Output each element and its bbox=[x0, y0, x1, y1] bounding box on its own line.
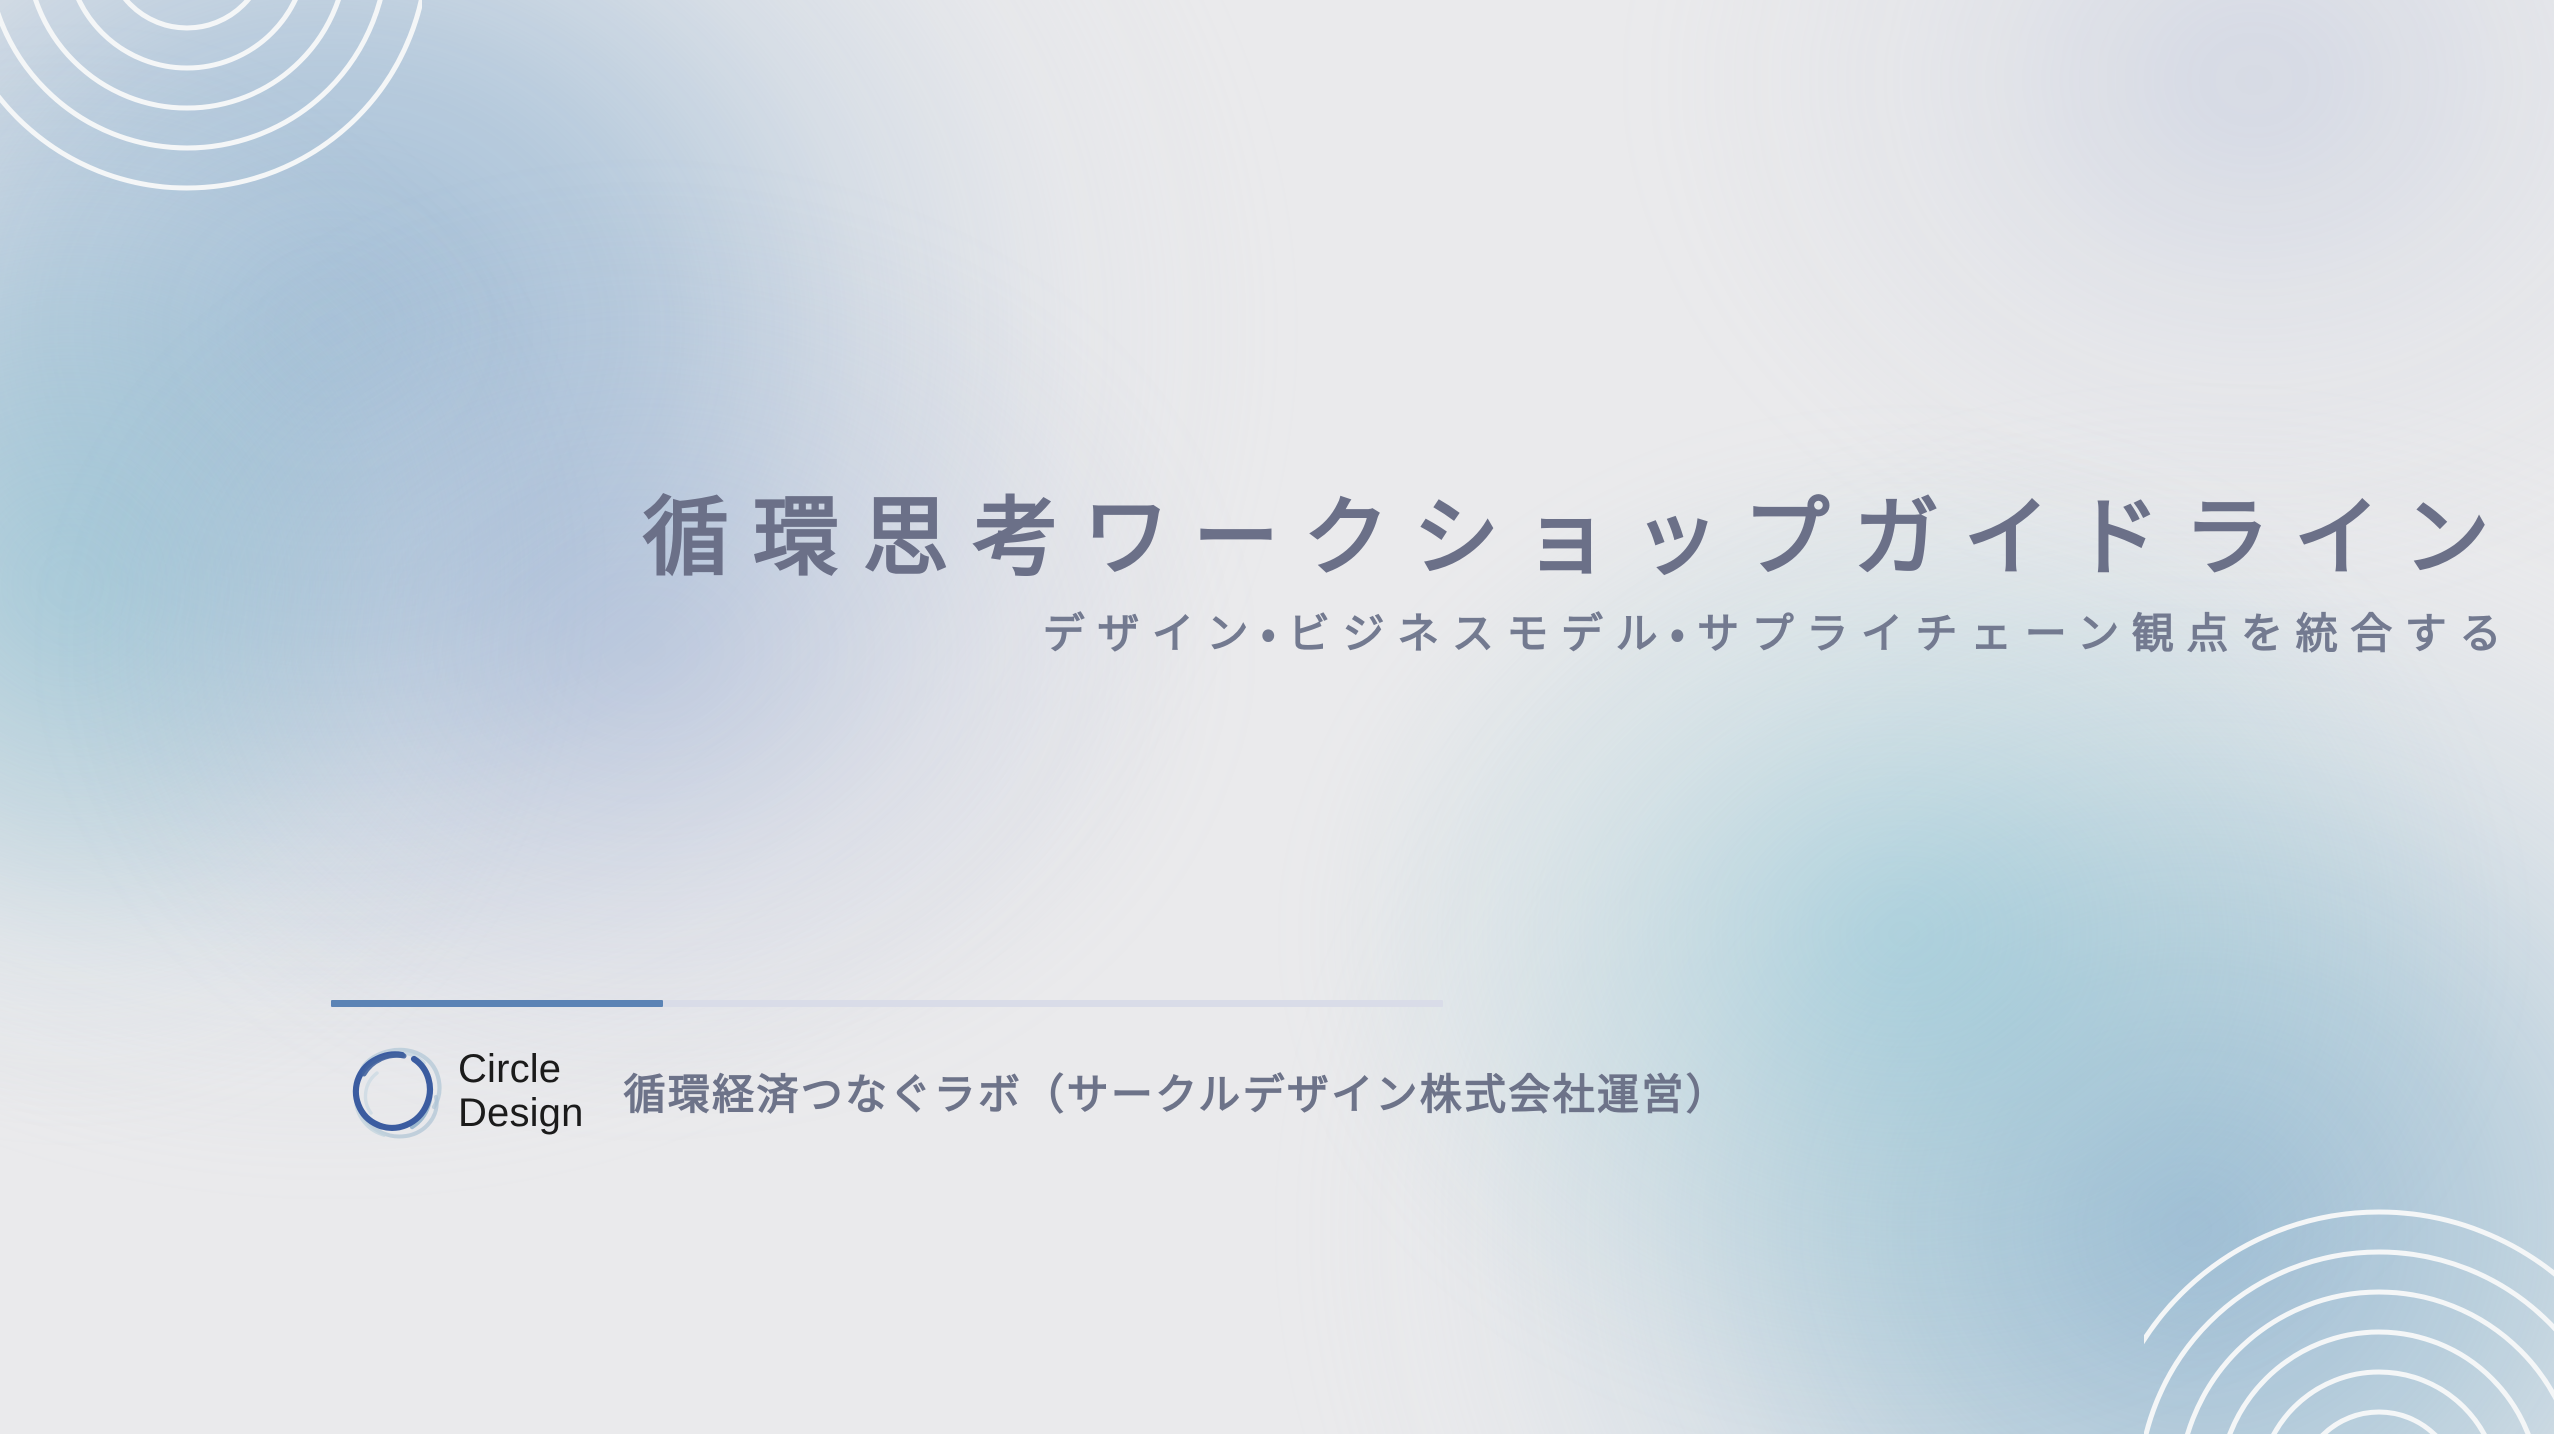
logo-wordmark: Circle Design bbox=[458, 1049, 583, 1133]
title-slide: 循環思考ワークショップガイドライン デザイン・ビジネスモデル・サプライチェーン観… bbox=[0, 0, 2554, 1434]
logo-word-design: Design bbox=[458, 1093, 583, 1133]
circle-brush-mark-icon bbox=[340, 1035, 452, 1147]
organization-name: 循環経済つなぐラボ（サークルデザイン株式会社運営） bbox=[623, 1061, 1730, 1122]
circle-design-logo: Circle Design bbox=[340, 1035, 583, 1147]
page-title: 循環思考ワークショップガイドライン bbox=[0, 489, 2514, 589]
title-block: 循環思考ワークショップガイドライン デザイン・ビジネスモデル・サプライチェーン観… bbox=[0, 489, 2514, 661]
divider-accent-segment bbox=[331, 1000, 663, 1007]
divider-track-segment bbox=[663, 1000, 1443, 1007]
divider bbox=[331, 1000, 1443, 1007]
brand-footer: Circle Design 循環経済つなぐラボ（サークルデザイン株式会社運営） bbox=[340, 1035, 1730, 1147]
page-subtitle: デザイン・ビジネスモデル・サプライチェーン観点を統合する bbox=[0, 607, 2514, 662]
logo-word-circle: Circle bbox=[458, 1049, 583, 1089]
slide-content: 循環思考ワークショップガイドライン デザイン・ビジネスモデル・サプライチェーン観… bbox=[0, 0, 2554, 1434]
